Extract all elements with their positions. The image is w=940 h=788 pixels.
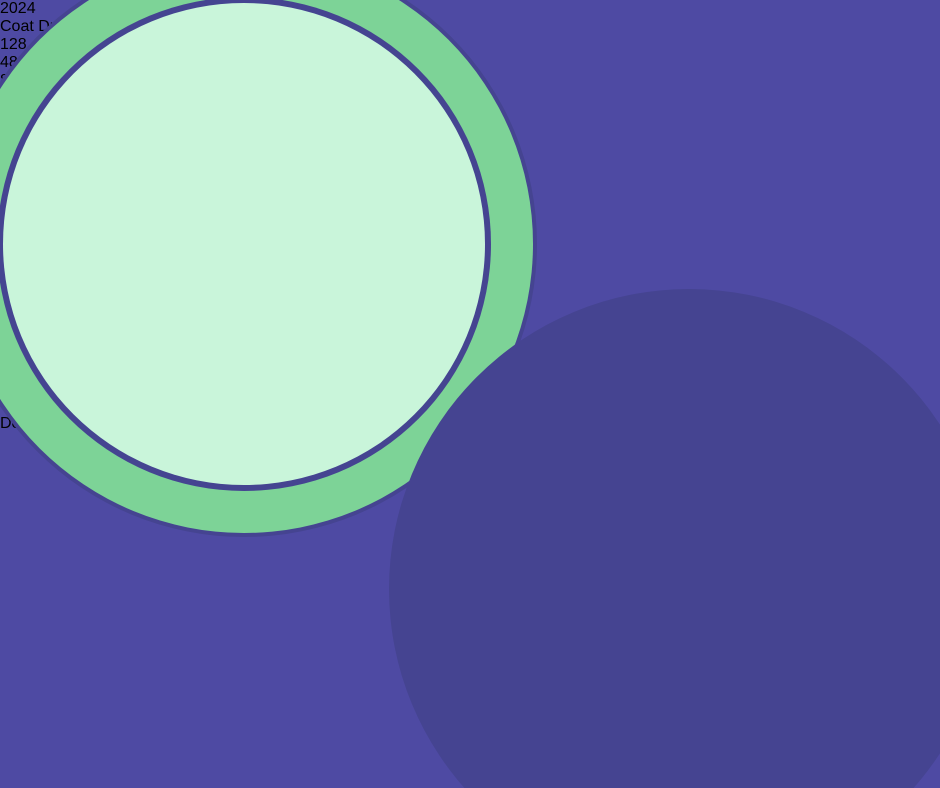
infographic-canvas: 2024 Coat Drive Impact 128 coats 48 pair… (0, 0, 940, 788)
green-badge-face (3, 3, 485, 485)
